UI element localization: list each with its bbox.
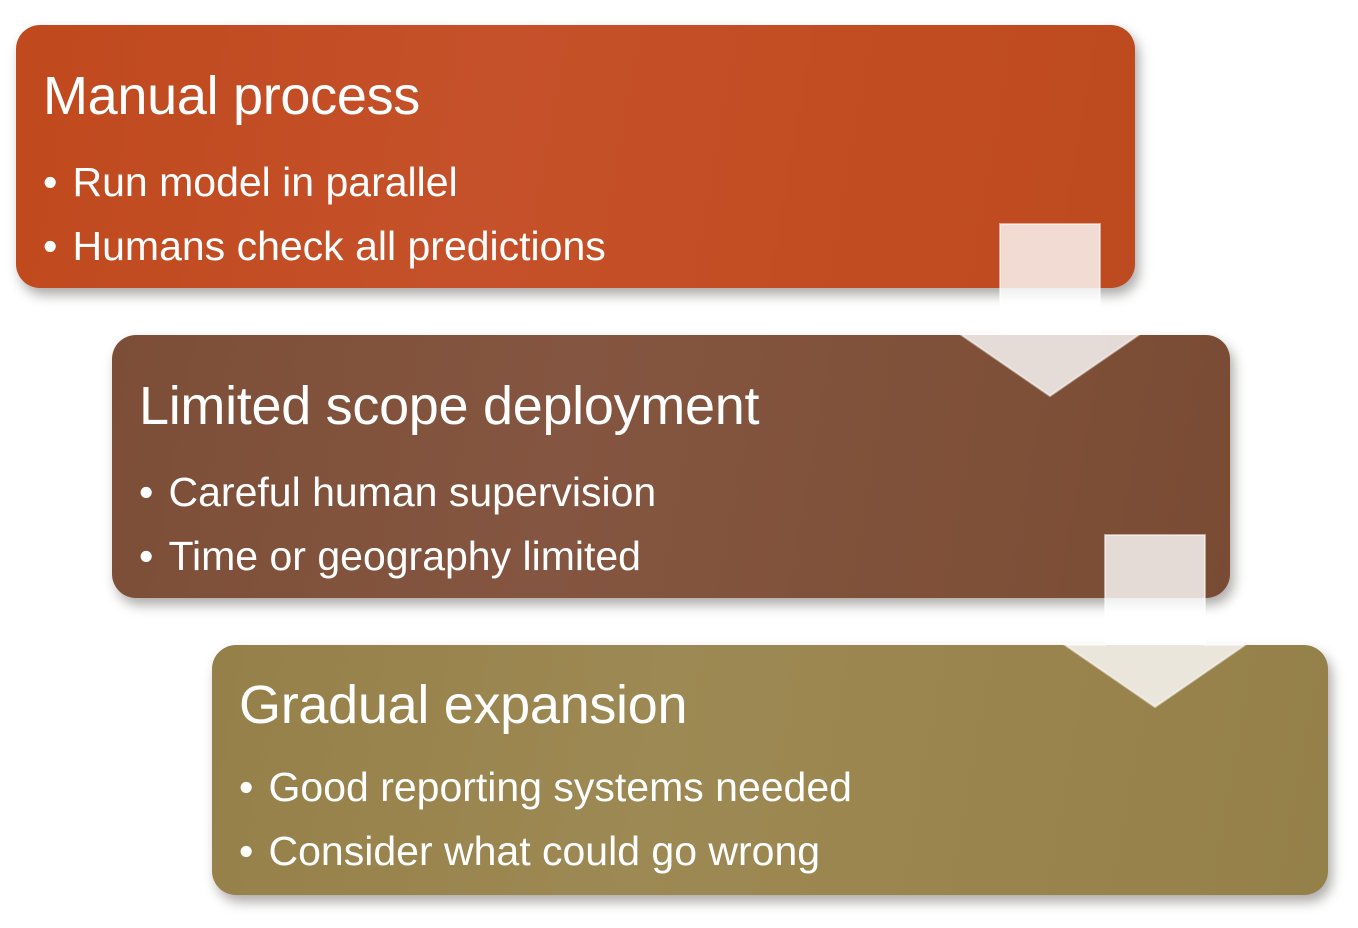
stage-box-limited-scope-deployment[interactable]: Limited scope deployment •Careful human … <box>112 335 1230 598</box>
stage-content: Gradual expansion •Good reporting system… <box>212 645 1328 895</box>
bullet-dot-icon: • <box>139 536 169 577</box>
stage-title: Limited scope deployment <box>139 379 759 433</box>
list-item: •Run model in parallel <box>43 162 606 226</box>
list-item-label: Consider what could go wrong <box>269 828 821 874</box>
list-item: •Careful human supervision <box>139 472 656 536</box>
bullet-dot-icon: • <box>239 831 269 872</box>
list-item-label: Good reporting systems needed <box>269 764 852 810</box>
bullet-dot-icon: • <box>239 767 269 808</box>
list-item: •Humans check all predictions <box>43 226 606 290</box>
bullet-dot-icon: • <box>139 472 169 513</box>
list-item-label: Run model in parallel <box>73 159 458 205</box>
list-item: •Consider what could go wrong <box>239 831 852 895</box>
list-item: •Good reporting systems needed <box>239 767 852 831</box>
list-item-label: Humans check all predictions <box>73 223 606 269</box>
stage-bullet-list: •Run model in parallel •Humans check all… <box>43 162 606 290</box>
list-item-label: Careful human supervision <box>169 469 657 515</box>
diagram-canvas: Manual process •Run model in parallel •H… <box>0 0 1358 928</box>
stage-box-manual-process[interactable]: Manual process •Run model in parallel •H… <box>16 25 1135 288</box>
list-item: •Time or geography limited <box>139 536 656 600</box>
stage-bullet-list: •Careful human supervision •Time or geog… <box>139 472 656 600</box>
stage-bullet-list: •Good reporting systems needed •Consider… <box>239 767 852 895</box>
list-item-label: Time or geography limited <box>169 533 641 579</box>
stage-title: Gradual expansion <box>239 678 687 732</box>
bullet-dot-icon: • <box>43 162 73 203</box>
stage-box-gradual-expansion[interactable]: Gradual expansion •Good reporting system… <box>212 645 1328 895</box>
stage-content: Manual process •Run model in parallel •H… <box>16 25 1135 288</box>
stage-title: Manual process <box>43 69 420 123</box>
stage-content: Limited scope deployment •Careful human … <box>112 335 1230 598</box>
bullet-dot-icon: • <box>43 226 73 267</box>
